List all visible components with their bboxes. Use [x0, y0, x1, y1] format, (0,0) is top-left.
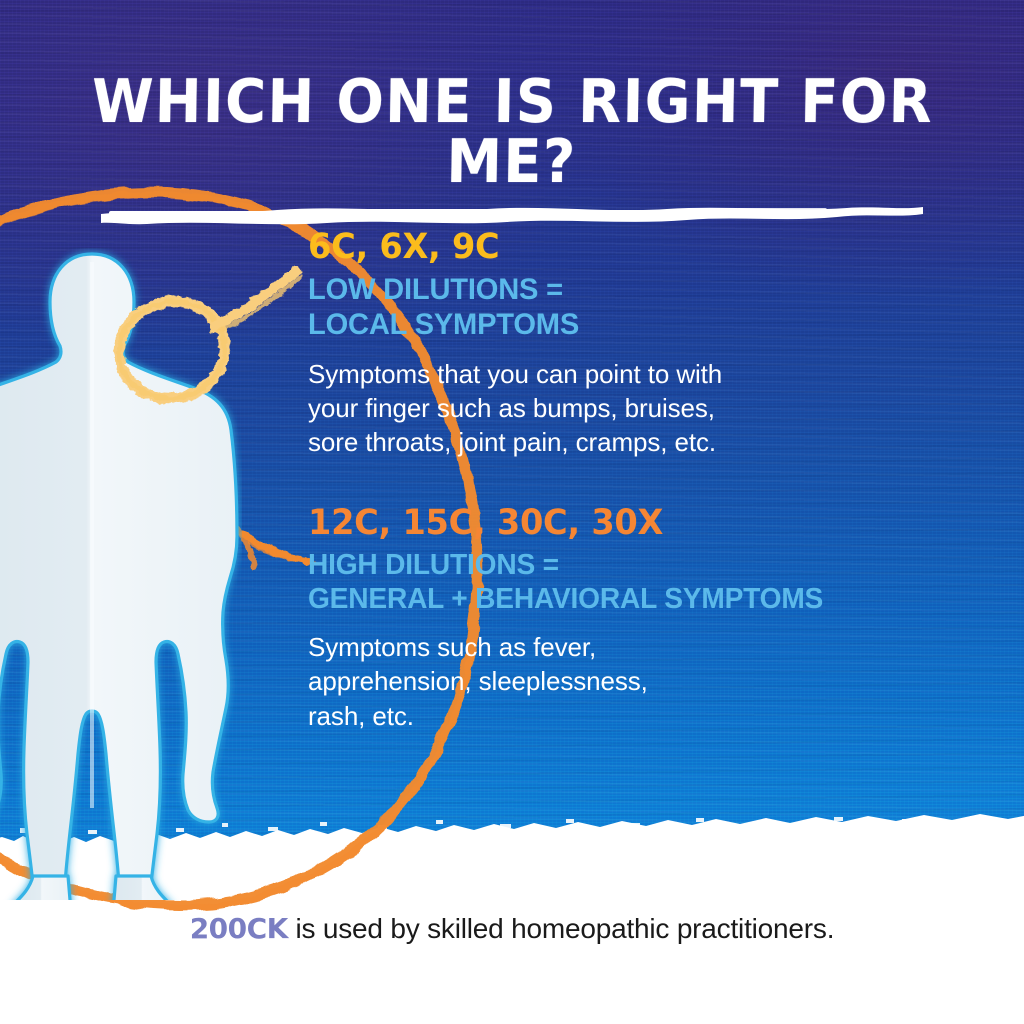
- title-underline-brushstroke: [97, 202, 927, 228]
- headline-high: HIGH DILUTIONS = GENERAL + BEHAVIORAL SY…: [308, 549, 968, 616]
- description-low: Symptoms that you can point to with your…: [308, 357, 988, 460]
- headline-low: LOW DILUTIONS = LOCAL SYMPTOMS: [308, 273, 968, 343]
- dose-label-low: 6C, 6X, 9C: [308, 228, 961, 267]
- footer-highlight-label: 200CK: [190, 912, 288, 945]
- dilution-block-low: 6C, 6X, 9C LOW DILUTIONS = LOCAL SYMPTOM…: [308, 228, 988, 460]
- title-block: WHICH ONE IS RIGHT FOR ME?: [0, 72, 1024, 233]
- description-high: Symptoms such as fever, apprehension, sl…: [308, 630, 988, 733]
- footer-note: 200CK is used by skilled homeopathic pra…: [0, 912, 1024, 945]
- infographic-poster: WHICH ONE IS RIGHT FOR ME? 6C, 6X, 9C LO…: [0, 0, 1024, 1024]
- content-column: 6C, 6X, 9C LOW DILUTIONS = LOCAL SYMPTOM…: [308, 228, 988, 733]
- dilution-block-high: 12C, 15C, 30C, 30X HIGH DILUTIONS = GENE…: [308, 504, 988, 733]
- footer-rest-label: is used by skilled homeopathic practitio…: [288, 913, 834, 944]
- dose-label-high: 12C, 15C, 30C, 30X: [308, 504, 961, 543]
- human-body-silhouette: [0, 248, 242, 900]
- page-title: WHICH ONE IS RIGHT FOR ME?: [35, 72, 989, 192]
